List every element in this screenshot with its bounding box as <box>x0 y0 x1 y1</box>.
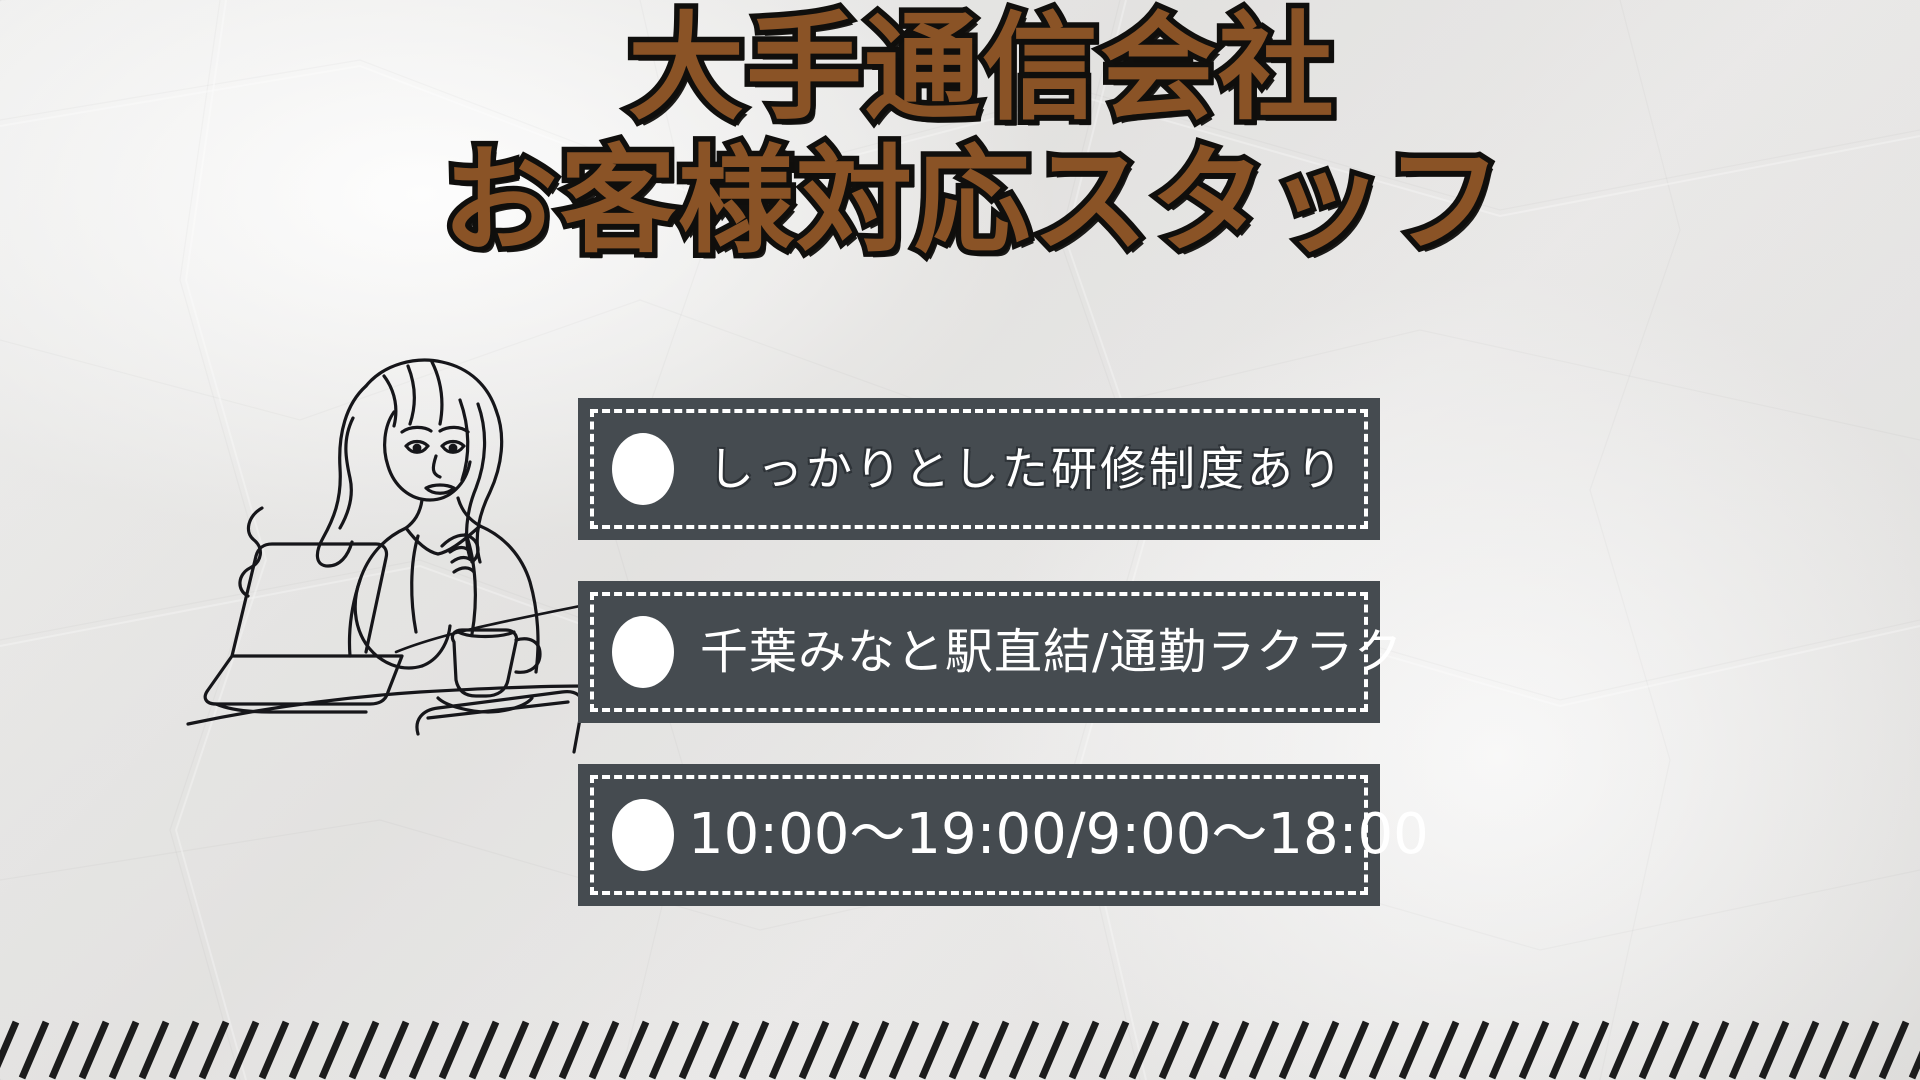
info-box-label: 10:00〜19:00/9:00〜18:00 <box>688 807 1429 863</box>
info-box-label: 千葉みなと駅直結/通勤ラクラク <box>700 628 1403 676</box>
title-line-2: お客様対応スタッフ <box>26 139 1920 264</box>
info-box-list: しっかりとした研修制度あり 千葉みなと駅直結/通勤ラクラク 10:00〜19:0… <box>578 398 1380 906</box>
info-box-label: しっかりとした研修制度あり <box>708 446 1345 492</box>
diagonal-hatch-strip <box>0 1008 1920 1080</box>
poster-canvas: 大手通信会社 お客様対応スタッフ <box>0 0 1920 1080</box>
line-art-illustration <box>170 300 590 760</box>
info-box-training[interactable]: しっかりとした研修制度あり <box>578 398 1380 540</box>
title-line-1: 大手通信会社 <box>44 6 1920 131</box>
bullet-circle-icon <box>612 433 674 505</box>
info-box-hours[interactable]: 10:00〜19:00/9:00〜18:00 <box>578 764 1380 906</box>
info-box-access[interactable]: 千葉みなと駅直結/通勤ラクラク <box>578 581 1380 723</box>
bullet-circle-icon <box>612 799 674 871</box>
poster-title: 大手通信会社 お客様対応スタッフ <box>0 6 1920 265</box>
bullet-circle-icon <box>612 616 674 688</box>
